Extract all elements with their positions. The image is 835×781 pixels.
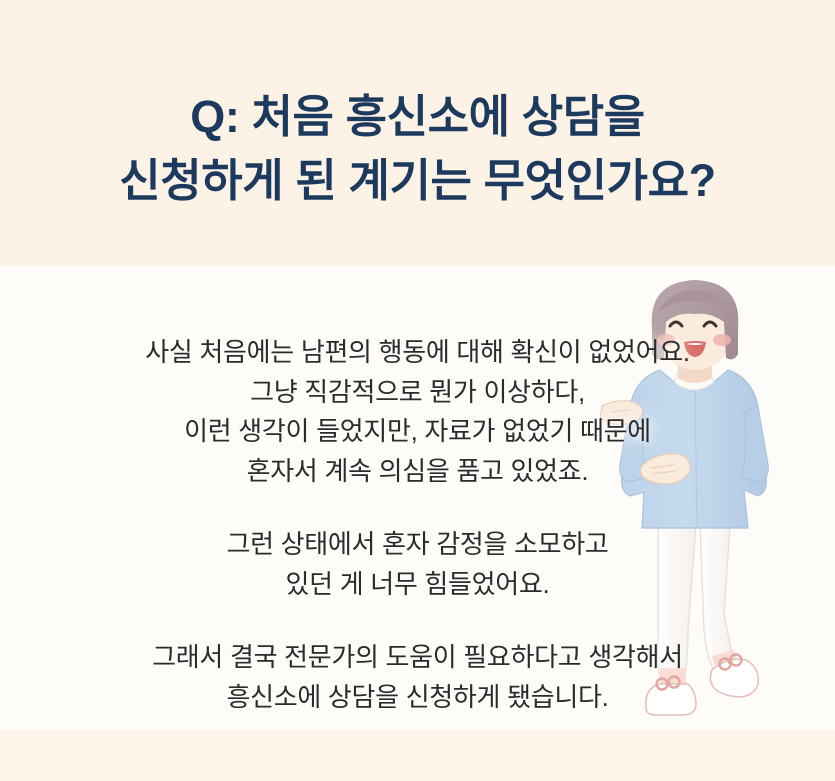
answer-paragraph-1: 사실 처음에는 남편의 행동에 대해 확신이 없었어요. 그냥 직감적으로 뭔가… (0, 333, 835, 491)
answer-paragraph-3: 그래서 결국 전문가의 도움이 필요하다고 생각해서 흥신소에 상담을 신청하게… (0, 638, 835, 717)
question-headline: Q: 처음 흥신소에 상담을 신청하게 된 계기는 무엇인가요? (0, 85, 835, 213)
answer-body: 사실 처음에는 남편의 행동에 대해 확신이 없었어요. 그냥 직감적으로 뭔가… (0, 307, 835, 743)
answer-paragraph-2: 그런 상태에서 혼자 감정을 소모하고 있던 게 너무 힘들었어요. (0, 525, 835, 604)
qa-card: Q: 처음 흥신소에 상담을 신청하게 된 계기는 무엇인가요? 사실 처음에는… (0, 0, 835, 781)
